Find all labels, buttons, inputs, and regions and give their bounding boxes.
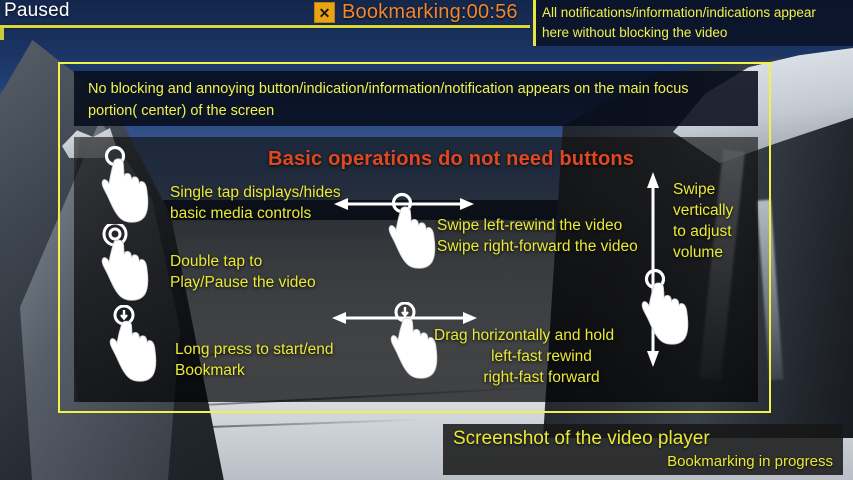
notification-callout: All notifications/information/indication… [533,0,853,46]
notification-line-1: All notifications/information/indication… [542,3,848,23]
single-tap-hand-icon [98,146,154,224]
swipe-horizontal-hand-icon [383,192,439,270]
swipe-vertical-line-2: vertically [673,201,733,222]
progress-bar[interactable] [0,25,530,28]
bookmarking-timer-label: Bookmarking:00:56 [342,1,518,24]
progress-bar-marker [0,28,4,40]
drag-hold-line-2: left-fast rewind [434,347,649,368]
drag-hold-label: Drag horizontally and hold left-fast rew… [434,326,649,389]
double-tap-line-2: Play/Pause the video [170,273,316,294]
drag-hold-line-3: right-fast forward [434,368,649,389]
note-line-1: No blocking and annoying button/indicati… [88,78,744,100]
swipe-vertical-line-4: volume [673,243,733,264]
double-tap-line-1: Double tap to [170,252,316,273]
swipe-horizontal-line-2: Swipe right-forward the video [437,237,638,258]
note-line-2: portion( center) of the screen [88,100,744,122]
single-tap-line-1: Single tap displays/hides [170,183,341,204]
long-press-label: Long press to start/end Bookmark [175,340,334,382]
long-press-hand-icon [105,305,161,383]
caption-box: Screenshot of the video player Bookmarki… [443,424,843,475]
single-tap-label: Single tap displays/hides basic media co… [170,183,341,225]
swipe-vertical-line-1: Swipe [673,180,733,201]
swipe-vertical-label: Swipe vertically to adjust volume [673,180,733,264]
double-tap-hand-icon [98,224,154,302]
caption-primary: Screenshot of the video player [453,427,833,452]
note-panel: No blocking and annoying button/indicati… [74,71,758,126]
double-tap-label: Double tap to Play/Pause the video [170,252,316,294]
swipe-vertical-hand-icon [637,268,693,346]
bookmarking-indicator: ✕ Bookmarking:00:56 [314,1,518,24]
video-player-screen: Paused ✕ Bookmarking:00:56 All notificat… [0,0,853,480]
long-press-line-1: Long press to start/end [175,340,334,361]
gesture-panel-title: Basic operations do not need buttons [268,148,634,171]
single-tap-line-2: basic media controls [170,204,341,225]
notification-line-2: here without blocking the video [542,23,848,43]
swipe-horizontal-line-1: Swipe left-rewind the video [437,216,638,237]
close-icon[interactable]: ✕ [314,2,335,23]
swipe-vertical-line-3: to adjust [673,222,733,243]
caption-secondary: Bookmarking in progress [453,452,833,472]
long-press-line-2: Bookmark [175,361,334,382]
player-state-label: Paused [4,0,70,22]
swipe-horizontal-label: Swipe left-rewind the video Swipe right-… [437,216,638,258]
drag-hold-line-1: Drag horizontally and hold [434,326,649,347]
